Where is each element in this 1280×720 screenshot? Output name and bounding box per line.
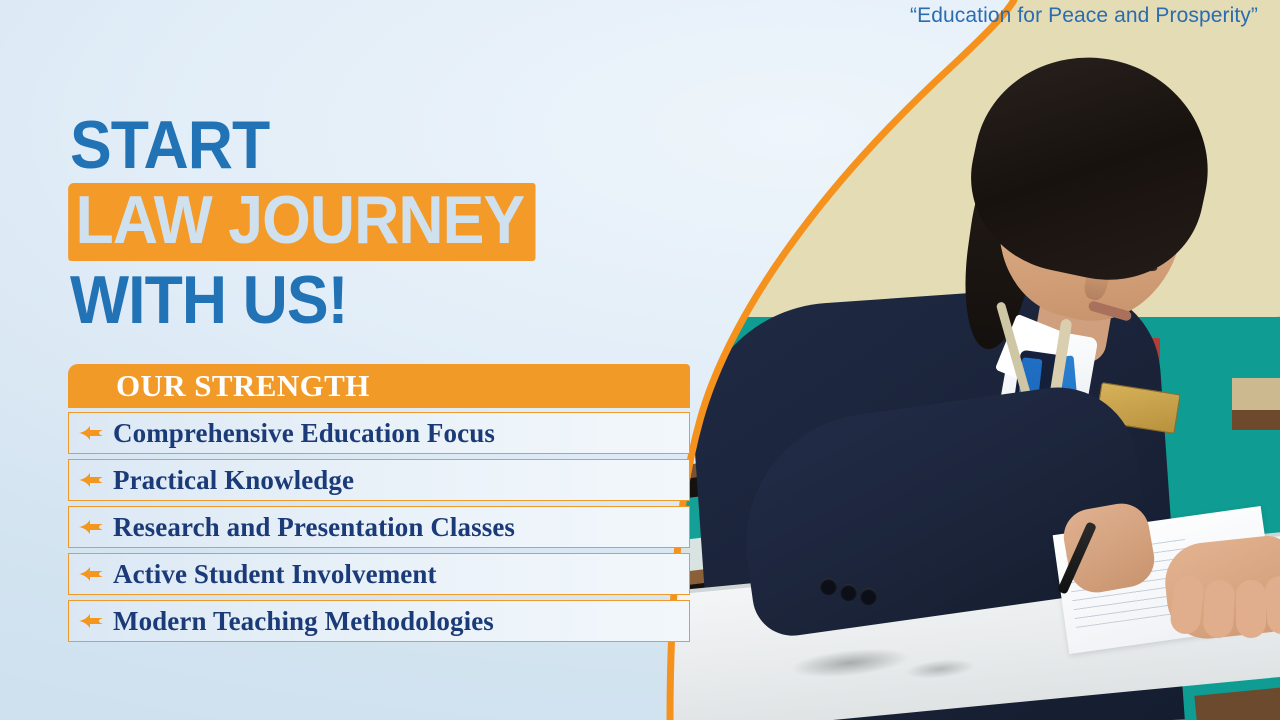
strength-list: Comprehensive Education Focus Practical … (68, 412, 690, 642)
list-item-label: Practical Knowledge (113, 465, 354, 496)
headline-line-3: WITH US! (70, 267, 659, 334)
classroom-bench-right (1232, 410, 1280, 430)
headline-line-2: LAW JOURNEY (68, 183, 535, 262)
blazer-cuff-button (840, 584, 857, 601)
list-item[interactable]: Comprehensive Education Focus (68, 412, 690, 454)
arrow-bullet-icon (69, 423, 113, 443)
strength-panel: OUR STRENGTH Comprehensive Education Foc… (68, 364, 690, 647)
list-item-label: Modern Teaching Methodologies (113, 606, 494, 637)
list-item[interactable]: Modern Teaching Methodologies (68, 600, 690, 642)
student-finger (1203, 579, 1236, 638)
arrow-bullet-icon (69, 564, 113, 584)
banner-canvas: “Education for Peace and Prosperity” STA… (0, 0, 1280, 720)
list-item-label: Research and Presentation Classes (113, 512, 515, 543)
arrow-bullet-icon (69, 517, 113, 537)
list-item[interactable]: Research and Presentation Classes (68, 506, 690, 548)
strength-title-bar: OUR STRENGTH (68, 364, 690, 408)
headline-line-1: START (70, 112, 659, 179)
arrow-bullet-icon (69, 470, 113, 490)
blazer-cuff-button (860, 588, 877, 605)
list-item[interactable]: Practical Knowledge (68, 459, 690, 501)
list-item-label: Comprehensive Education Focus (113, 418, 495, 449)
student-finger (1236, 580, 1266, 638)
list-item-label: Active Student Involvement (113, 559, 437, 590)
headline-block: START LAW JOURNEY WITH US! (70, 112, 710, 334)
strength-title: OUR STRENGTH (116, 368, 370, 404)
tagline: “Education for Peace and Prosperity” (910, 4, 1258, 28)
arrow-bullet-icon (69, 611, 113, 631)
blazer-cuff-button (820, 578, 837, 595)
list-item[interactable]: Active Student Involvement (68, 553, 690, 595)
classroom-bench-right (1232, 378, 1280, 412)
